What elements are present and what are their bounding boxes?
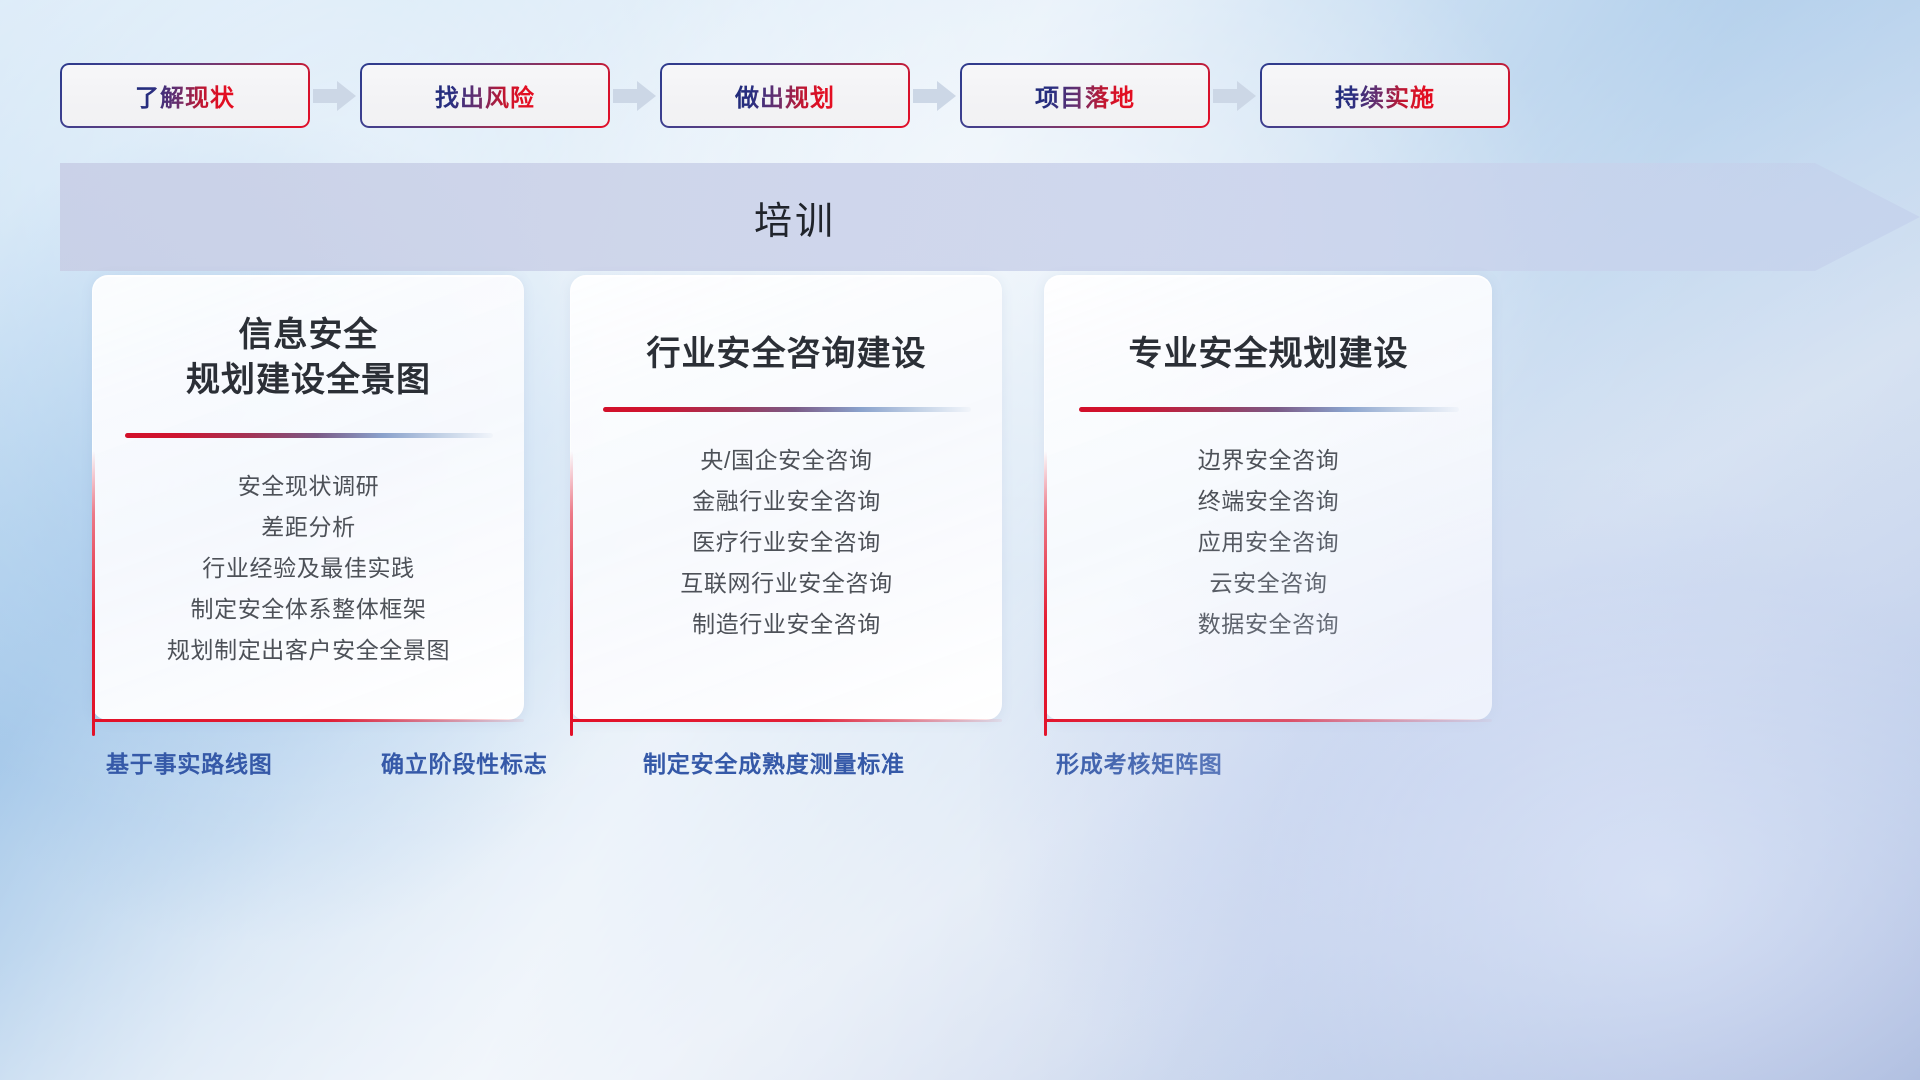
banner-title: 培训 <box>60 163 1530 271</box>
process-step-1[interactable]: 找出风险 <box>360 63 610 128</box>
card-list-item: 医疗行业安全咨询 <box>571 522 1002 563</box>
card-list-item: 边界安全咨询 <box>1045 440 1492 481</box>
card-list-item: 制定安全体系整体框架 <box>93 589 524 630</box>
arrow-right-icon <box>910 78 960 114</box>
card-list-item: 应用安全咨询 <box>1045 522 1492 563</box>
training-banner-arrow: 培训 <box>60 163 1920 271</box>
card-list-item: 数据安全咨询 <box>1045 604 1492 645</box>
card-title: 信息安全 规划建设全景图 <box>93 313 524 403</box>
bottom-labels-row: 基于事实路线图 确立阶段性标志 制定安全成熟度测量标准 形成考核矩阵图 <box>0 745 1920 795</box>
bottom-label-milestones: 确立阶段性标志 <box>381 745 548 779</box>
card-list-item: 终端安全咨询 <box>1045 481 1492 522</box>
bottom-label-assessment-matrix: 形成考核矩阵图 <box>1056 745 1223 779</box>
bottom-label-maturity-standard: 制定安全成熟度测量标准 <box>643 745 905 779</box>
card-list-item: 安全现状调研 <box>93 466 524 507</box>
card-list-item: 金融行业安全咨询 <box>571 481 1002 522</box>
card-item-list: 央/国企安全咨询 金融行业安全咨询 医疗行业安全咨询 互联网行业安全咨询 制造行… <box>571 440 1002 645</box>
card-title: 专业安全规划建设 <box>1045 332 1492 377</box>
card-title-line: 信息安全 <box>111 313 506 358</box>
card-list-item: 云安全咨询 <box>1045 563 1492 604</box>
card-title: 行业安全咨询建设 <box>571 332 1002 377</box>
card-professional-security-planning[interactable]: 专业安全规划建设 边界安全咨询 终端安全咨询 应用安全咨询 云安全咨询 数据安全… <box>1044 275 1492 720</box>
cards-row: 信息安全 规划建设全景图 安全现状调研 差距分析 行业经验及最佳实践 制定安全体… <box>92 275 1492 720</box>
process-steps-row: 了解现状 找出风险 做出规划 项目落地 持续实施 <box>60 63 1860 128</box>
card-title-line: 行业安全咨询建设 <box>589 332 984 377</box>
process-step-4[interactable]: 持续实施 <box>1260 63 1510 128</box>
card-list-item: 差距分析 <box>93 507 524 548</box>
card-divider <box>125 433 493 438</box>
process-step-label: 项目落地 <box>1035 78 1135 113</box>
card-industry-security-consulting[interactable]: 行业安全咨询建设 央/国企安全咨询 金融行业安全咨询 医疗行业安全咨询 互联网行… <box>570 275 1002 720</box>
card-divider <box>603 407 971 412</box>
card-list-item: 互联网行业安全咨询 <box>571 563 1002 604</box>
card-list-item: 规划制定出客户安全全景图 <box>93 630 524 671</box>
card-item-list: 边界安全咨询 终端安全咨询 应用安全咨询 云安全咨询 数据安全咨询 <box>1045 440 1492 645</box>
card-divider <box>1079 407 1459 412</box>
arrow-right-icon <box>610 78 660 114</box>
process-step-0[interactable]: 了解现状 <box>60 63 310 128</box>
card-list-item: 央/国企安全咨询 <box>571 440 1002 481</box>
card-information-security-blueprint[interactable]: 信息安全 规划建设全景图 安全现状调研 差距分析 行业经验及最佳实践 制定安全体… <box>92 275 524 720</box>
arrow-right-icon <box>1210 78 1260 114</box>
process-step-label: 找出风险 <box>435 78 535 113</box>
bottom-label-roadmap: 基于事实路线图 <box>106 745 273 779</box>
process-step-2[interactable]: 做出规划 <box>660 63 910 128</box>
process-step-3[interactable]: 项目落地 <box>960 63 1210 128</box>
card-title-line: 专业安全规划建设 <box>1063 332 1474 377</box>
card-item-list: 安全现状调研 差距分析 行业经验及最佳实践 制定安全体系整体框架 规划制定出客户… <box>93 466 524 671</box>
process-step-label: 了解现状 <box>135 78 235 113</box>
process-step-label: 做出规划 <box>735 78 835 113</box>
card-list-item: 行业经验及最佳实践 <box>93 548 524 589</box>
arrow-right-icon <box>310 78 360 114</box>
process-step-label: 持续实施 <box>1335 78 1435 113</box>
card-title-line: 规划建设全景图 <box>111 358 506 403</box>
card-list-item: 制造行业安全咨询 <box>571 604 1002 645</box>
slide-canvas: 了解现状 找出风险 做出规划 项目落地 持续实施 <box>0 0 1920 1080</box>
